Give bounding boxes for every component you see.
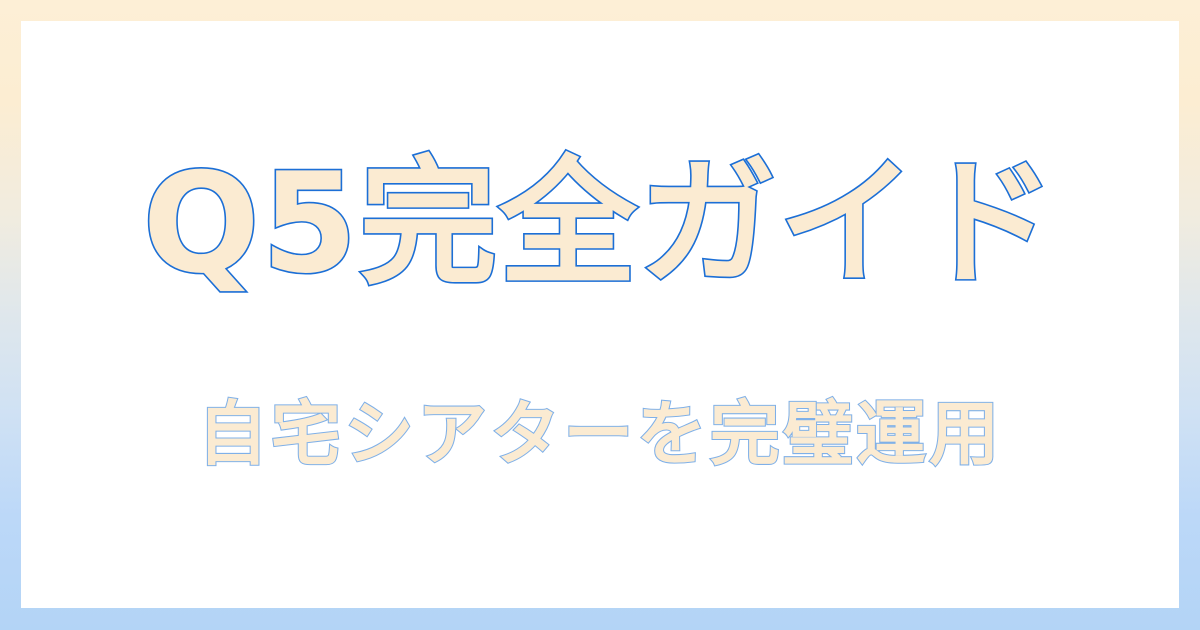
title-block: Q5完全ガイド: [21, 149, 1179, 298]
page-subtitle: 自宅シアターを完璧運用: [198, 395, 1003, 475]
subtitle-block: 自宅シアターを完璧運用: [21, 395, 1179, 475]
page-title: Q5完全ガイド: [143, 149, 1058, 298]
content-card: Q5完全ガイド 自宅シアターを完璧運用: [21, 21, 1179, 608]
thumbnail-canvas: Q5完全ガイド 自宅シアターを完璧運用: [0, 0, 1200, 630]
